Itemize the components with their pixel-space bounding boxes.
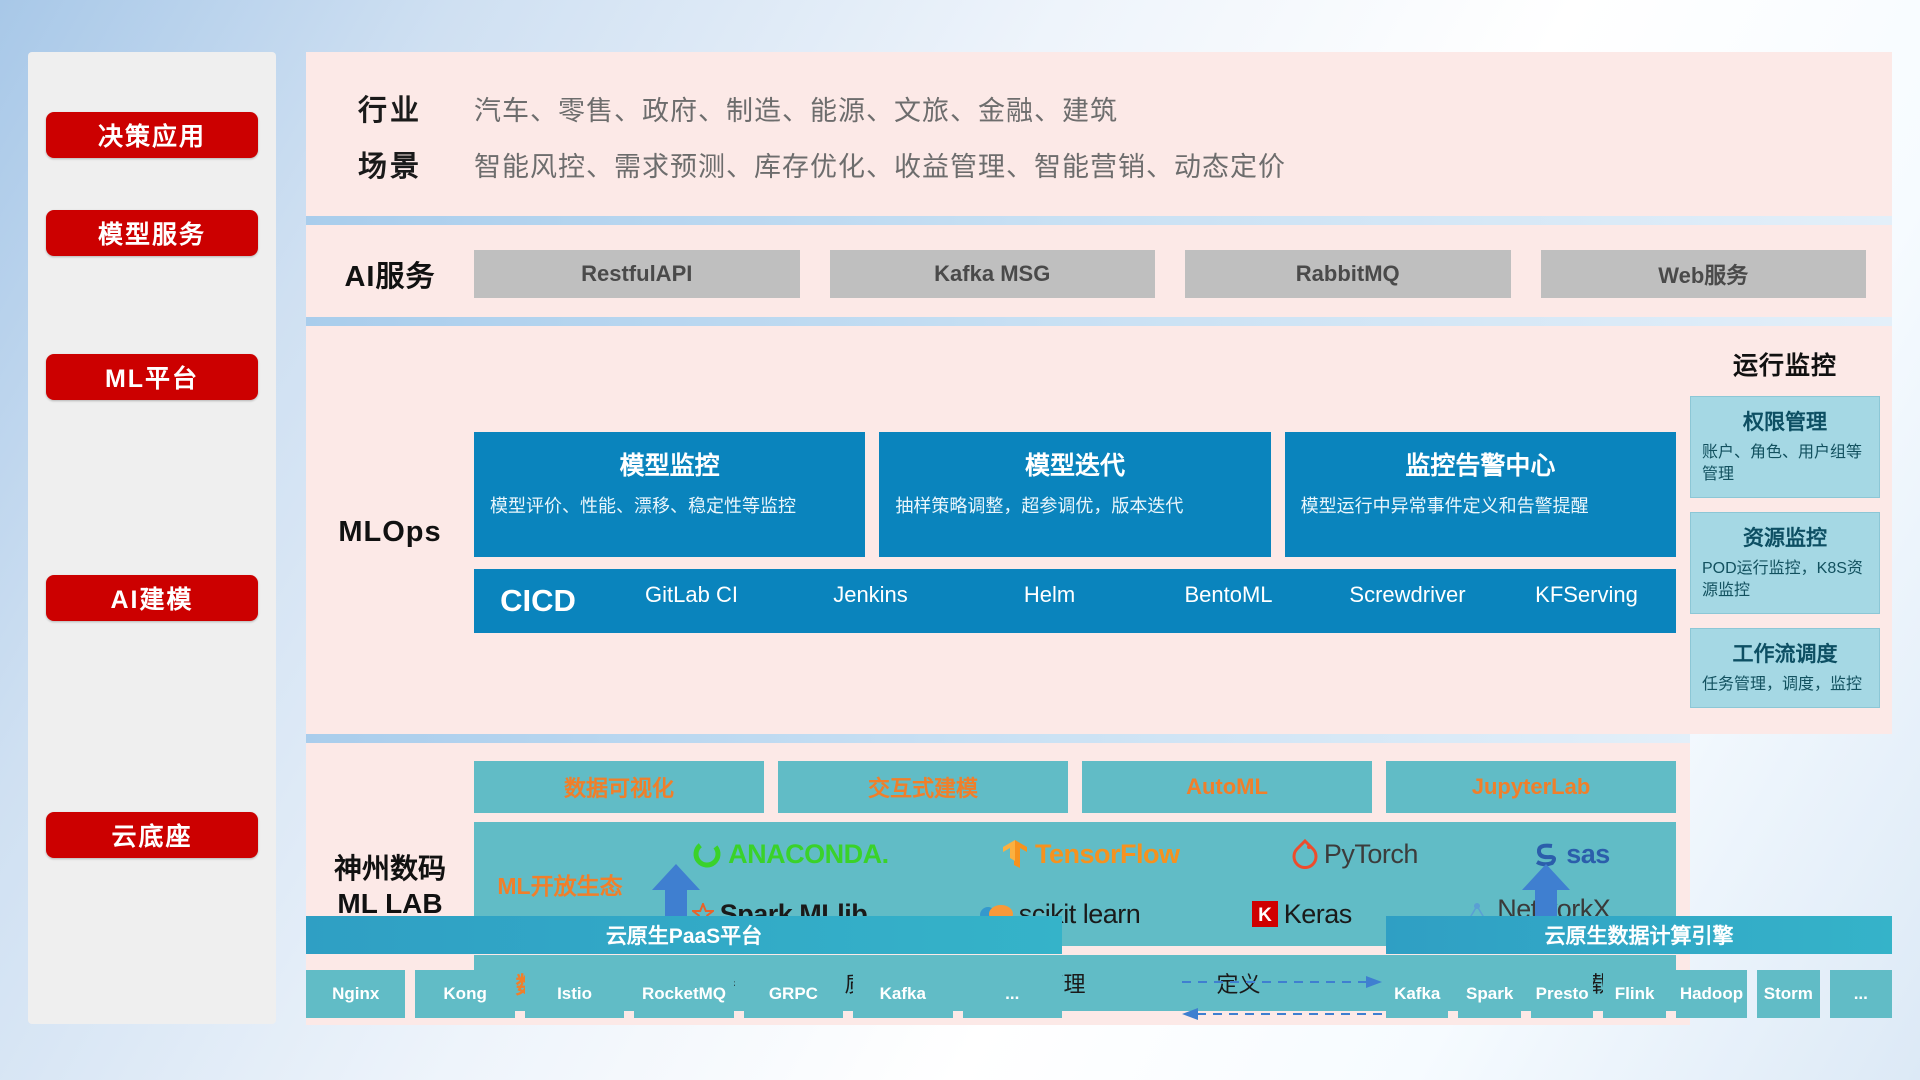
pytorch-logo: PyTorch [1292, 839, 1418, 870]
main-column: 行业 汽车、零售、政府、制造、能源、文旅、金融、建筑 场景 智能风控、需求预测、… [306, 52, 1892, 1025]
cicd-title: CICD [474, 583, 602, 619]
tensorflow-icon [1001, 838, 1029, 870]
ai-service-restfulapi[interactable]: RestfulAPI [474, 250, 800, 298]
cicd-item-gitlab-ci[interactable]: GitLab CI [602, 569, 781, 633]
scenario-values: 智能风控、需求预测、库存优化、收益管理、智能营销、动态定价 [474, 145, 1286, 184]
cloud-paas-group: 云原生PaaS平台 Nginx Kong Istio RocketMQ GRPC… [306, 916, 1062, 1018]
tensorflow-logo: TensorFlow [1001, 838, 1180, 870]
pytorch-label: PyTorch [1324, 839, 1418, 870]
paas-chip-kafka[interactable]: Kafka [853, 970, 952, 1018]
mlops-card-alert-center[interactable]: 监控告警中心 模型运行中异常事件定义和告警提醒 [1285, 432, 1676, 557]
paas-chip-rocketmq[interactable]: RocketMQ [634, 970, 733, 1018]
industry-label: 行业 [306, 87, 474, 129]
rail-item-model-service[interactable]: 模型服务 [46, 210, 258, 256]
ml-lab-label: 神州数码 ML LAB [306, 851, 474, 921]
card-desc: 账户、角色、用户组等管理 [1702, 442, 1868, 486]
paas-chip-nginx[interactable]: Nginx [306, 970, 405, 1018]
tool-automl[interactable]: AutoML [1082, 761, 1372, 813]
engine-chip-more[interactable]: ... [1830, 970, 1892, 1018]
monitor-card-workflow[interactable]: 工作流调度 任务管理，调度，监控 [1690, 628, 1880, 708]
ml-ecosystem-label: ML开放生态 [484, 867, 636, 901]
mlops-band: MLOps 模型监控 模型评价、性能、漂移、稳定性等监控 模型迭代 抽样策略调整… [306, 326, 1892, 734]
engine-chip-presto[interactable]: Presto [1531, 970, 1593, 1018]
engine-chip-spark[interactable]: Spark [1458, 970, 1520, 1018]
engine-chip-hadoop[interactable]: Hadoop [1676, 970, 1747, 1018]
card-desc: 任务管理，调度，监控 [1702, 674, 1868, 696]
cloud-data-engine-header: 云原生数据计算引擎 [1386, 916, 1892, 954]
card-desc: 模型评价、性能、漂移、稳定性等监控 [490, 494, 849, 520]
cicd-item-kfserving[interactable]: KFServing [1497, 569, 1676, 633]
card-title: 监控告警中心 [1301, 446, 1660, 482]
industry-scenario-band: 行业 汽车、零售、政府、制造、能源、文旅、金融、建筑 场景 智能风控、需求预测、… [306, 52, 1892, 216]
ai-service-rabbitmq[interactable]: RabbitMQ [1185, 250, 1511, 298]
bidirectional-link-icon [1178, 968, 1386, 1028]
ai-service-band: AI服务 RestfulAPI Kafka MSG RabbitMQ Web服务 [306, 225, 1892, 317]
band-divider [306, 317, 1892, 326]
anaconda-label: ANACONDA. [728, 839, 889, 870]
industry-row: 行业 汽车、零售、政府、制造、能源、文旅、金融、建筑 [306, 80, 1892, 136]
industry-values: 汽车、零售、政府、制造、能源、文旅、金融、建筑 [474, 89, 1118, 128]
engine-chip-kafka[interactable]: Kafka [1386, 970, 1448, 1018]
card-title: 模型监控 [490, 446, 849, 482]
cloud-paas-header: 云原生PaaS平台 [306, 916, 1062, 954]
mlops-left: MLOps 模型监控 模型评价、性能、漂移、稳定性等监控 模型迭代 抽样策略调整… [306, 326, 1690, 734]
cicd-item-jenkins[interactable]: Jenkins [781, 569, 960, 633]
band-divider [306, 734, 1690, 743]
monitor-card-resource[interactable]: 资源监控 POD运行监控，K8S资源监控 [1690, 512, 1880, 614]
engine-chip-flink[interactable]: Flink [1603, 970, 1665, 1018]
paas-chip-kong[interactable]: Kong [415, 970, 514, 1018]
arrow-up-left-icon [646, 864, 706, 920]
tool-interactive-modeling[interactable]: 交互式建模 [778, 761, 1068, 813]
engine-chip-storm[interactable]: Storm [1757, 970, 1819, 1018]
anaconda-logo: ANACONDA. [692, 839, 889, 870]
cicd-item-helm[interactable]: Helm [960, 569, 1139, 633]
scenario-row: 场景 智能风控、需求预测、库存优化、收益管理、智能营销、动态定价 [306, 136, 1892, 192]
scenario-label: 场景 [306, 143, 474, 185]
paas-chip-more[interactable]: ... [963, 970, 1062, 1018]
tensorflow-label: TensorFlow [1035, 839, 1180, 870]
cicd-item-screwdriver[interactable]: Screwdriver [1318, 569, 1497, 633]
arrow-up-right-icon [1516, 864, 1576, 920]
paas-chip-istio[interactable]: Istio [525, 970, 624, 1018]
rail-item-decision-app[interactable]: 决策应用 [46, 112, 258, 158]
rail-item-cloud-base[interactable]: 云底座 [46, 812, 258, 858]
tool-jupyterlab[interactable]: JupyterLab [1386, 761, 1676, 813]
tool-data-visualization[interactable]: 数据可视化 [474, 761, 764, 813]
cicd-bar: CICD GitLab CI Jenkins Helm BentoML Scre… [474, 569, 1676, 633]
mlops-card-model-monitor[interactable]: 模型监控 模型评价、性能、漂移、稳定性等监控 [474, 432, 865, 557]
left-rail: 决策应用 模型服务 ML平台 AI建模 云底座 [28, 52, 276, 1024]
card-desc: 抽样策略调整，超参调优，版本迭代 [895, 494, 1254, 520]
runtime-monitor-title: 运行监控 [1690, 338, 1880, 396]
monitor-card-permission[interactable]: 权限管理 账户、角色、用户组等管理 [1690, 396, 1880, 498]
rail-item-ml-platform[interactable]: ML平台 [46, 354, 258, 400]
ai-service-label: AI服务 [306, 253, 474, 295]
ai-service-kafka-msg[interactable]: Kafka MSG [830, 250, 1156, 298]
mlops-label: MLOps [306, 516, 474, 549]
cloud-data-engine-group: 云原生数据计算引擎 Kafka Spark Presto Flink Hadoo… [1386, 916, 1892, 1018]
card-title: 工作流调度 [1702, 638, 1868, 668]
paas-chip-grpc[interactable]: GRPC [744, 970, 843, 1018]
card-title: 模型迭代 [895, 446, 1254, 482]
mlops-card-model-iteration[interactable]: 模型迭代 抽样策略调整，超参调优，版本迭代 [879, 432, 1270, 557]
cicd-item-bentoml[interactable]: BentoML [1139, 569, 1318, 633]
ml-lab-label-line1: 神州数码 [306, 851, 474, 886]
runtime-monitor-panel: 运行监控 权限管理 账户、角色、用户组等管理 资源监控 POD运行监控，K8S资… [1690, 326, 1892, 734]
card-title: 权限管理 [1702, 406, 1868, 436]
rail-item-ai-modeling[interactable]: AI建模 [46, 575, 258, 621]
cloud-base-section: 云原生PaaS平台 Nginx Kong Istio RocketMQ GRPC… [306, 916, 1892, 1056]
band-divider [306, 216, 1892, 225]
card-desc: 模型运行中异常事件定义和告警提醒 [1301, 494, 1660, 520]
card-title: 资源监控 [1702, 522, 1868, 552]
card-desc: POD运行监控，K8S资源监控 [1702, 558, 1868, 602]
pytorch-icon [1292, 839, 1318, 869]
ai-service-web[interactable]: Web服务 [1541, 250, 1867, 298]
